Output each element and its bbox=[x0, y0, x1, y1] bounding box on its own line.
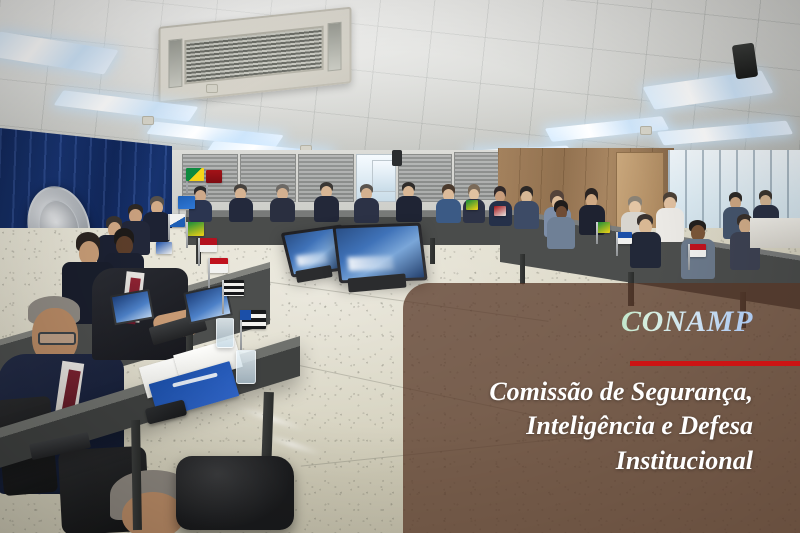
accent-rule bbox=[630, 361, 800, 366]
conamp-logo-text: CONAMP bbox=[621, 307, 753, 337]
title-line-2: Inteligência e Defesa bbox=[423, 409, 753, 443]
title-line-3: Institucional bbox=[423, 444, 753, 478]
commission-title: Comissão de Segurança, Inteligência e De… bbox=[403, 375, 800, 478]
title-line-1: Comissão de Segurança, bbox=[423, 375, 753, 409]
screenshot-root: CONAMP Comissão de Segurança, Inteligênc… bbox=[0, 0, 800, 533]
